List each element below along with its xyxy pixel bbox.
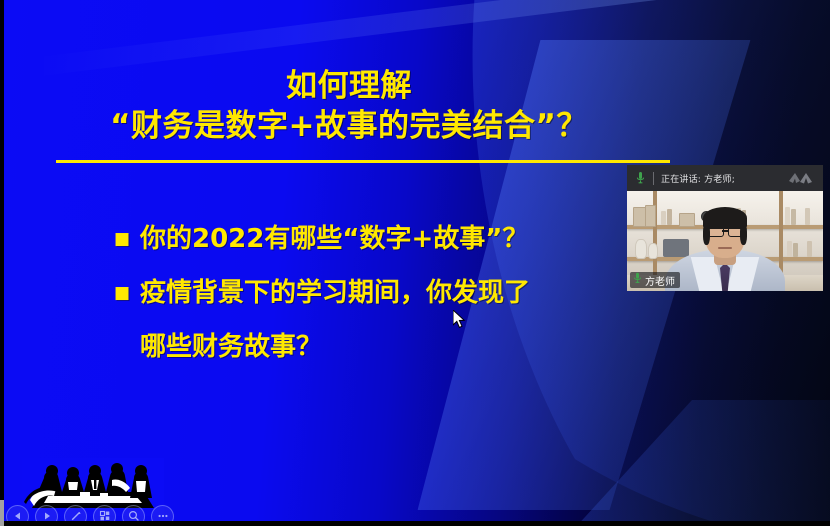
shelf-vase [635,239,647,259]
screen: 如何理解 “财务是数字+故事的完美结合”？ ■ 你的2022有哪些“数字+故事”… [0,0,830,526]
slide-title-underline [56,160,670,163]
slide-body: ■ 你的2022有哪些“数字+故事”？ ■ 疫情背景下的学习期间，你发现了 哪些… [114,212,674,374]
shelf-binder [645,205,656,227]
shelf-cabinet [663,239,689,257]
eyeglasses-bridge [722,230,728,232]
background-swoosh-bottom-shape [564,400,830,521]
shelf-book [661,211,666,225]
shelf-book [667,209,672,225]
pen-icon [70,510,82,521]
background-window-edge [0,500,4,526]
zoom-video-header: 正在讲话: 方老师; [627,165,823,191]
triangle-right-icon [42,511,52,521]
grid-icon [99,510,111,521]
person-hair-right [740,223,747,245]
slide-title-line-1: 如何理解 [4,66,694,106]
triangle-left-icon [13,511,23,521]
shelf-book [805,208,810,225]
bullet-marker: ■ [114,266,140,320]
double-chevron-icon[interactable] [788,170,814,184]
person-mouth [718,247,732,249]
ellipsis-icon [157,510,169,521]
bullet-marker: ■ [114,212,140,266]
slide-overview-button[interactable] [93,505,116,522]
microphone-icon [634,170,647,186]
zoom-in-button[interactable] [122,505,145,522]
shelf-vase [648,243,658,259]
magnifier-icon [128,510,140,521]
shelf-book [807,241,812,257]
bullet-text: 你的2022有哪些“数字+故事”？ [140,212,674,266]
bullet-text: 疫情背景下的学习期间，你发现了 [140,266,674,320]
microphone-icon [633,271,642,289]
participant-name-badge: 方老师 [630,272,680,288]
shelf-book [791,209,796,225]
bullet-item: ■ 你的2022有哪些“数字+故事”？ [114,212,674,266]
zoom-video-panel[interactable]: 正在讲话: 方老师; [627,165,823,291]
active-speaker-label: 正在讲话: 方老师; [661,172,735,185]
shelf-box [679,213,695,227]
shelf-book [793,243,798,257]
next-slide-button[interactable] [35,505,58,522]
bullet-text-continued: 哪些财务故事？ [140,320,674,374]
pen-tool-button[interactable] [64,505,87,522]
person-hair-left [703,223,710,245]
shelf-book [785,207,790,225]
slide-title: 如何理解 “财务是数字+故事的完美结合”？ [4,66,694,146]
more-options-button[interactable] [151,505,174,522]
slide-title-line-2: “财务是数字+故事的完美结合”？ [4,106,694,146]
header-divider [653,172,654,185]
powerpoint-slideshow-toolbar[interactable] [6,505,174,521]
shelf-book [787,241,792,257]
zoom-video-stage[interactable]: 方老师 [627,191,823,291]
participant-name: 方老师 [645,273,675,288]
previous-slide-button[interactable] [6,505,29,522]
bullet-item: ■ 疫情背景下的学习期间，你发现了 [114,266,674,320]
